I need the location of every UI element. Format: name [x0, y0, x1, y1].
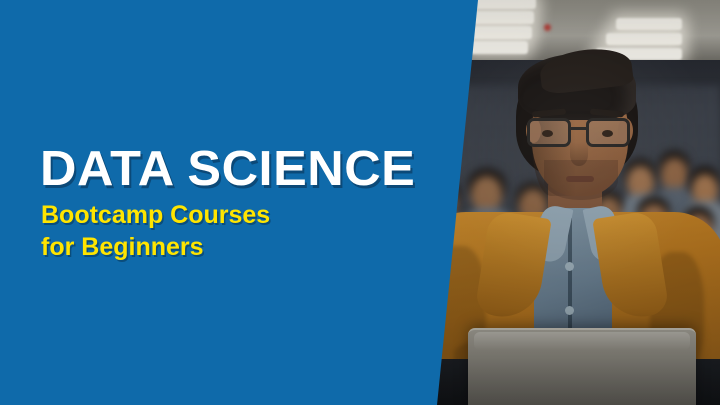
shirt-button [565, 306, 574, 315]
mouth [566, 176, 594, 182]
laptop-sheen [474, 332, 690, 350]
promo-banner: DATA SCIENCE Bootcamp Courses for Beginn… [0, 0, 720, 405]
subtitle-line-1: Bootcamp Courses [41, 200, 440, 230]
eye-right [602, 130, 613, 137]
page-title: DATA SCIENCE [40, 144, 452, 194]
shirt-button [565, 262, 574, 271]
glasses-bridge [571, 127, 589, 130]
subtitle-line-2: for Beginners [41, 232, 440, 262]
headline-block: DATA SCIENCE Bootcamp Courses for Beginn… [40, 144, 440, 262]
eye-left [542, 130, 553, 137]
